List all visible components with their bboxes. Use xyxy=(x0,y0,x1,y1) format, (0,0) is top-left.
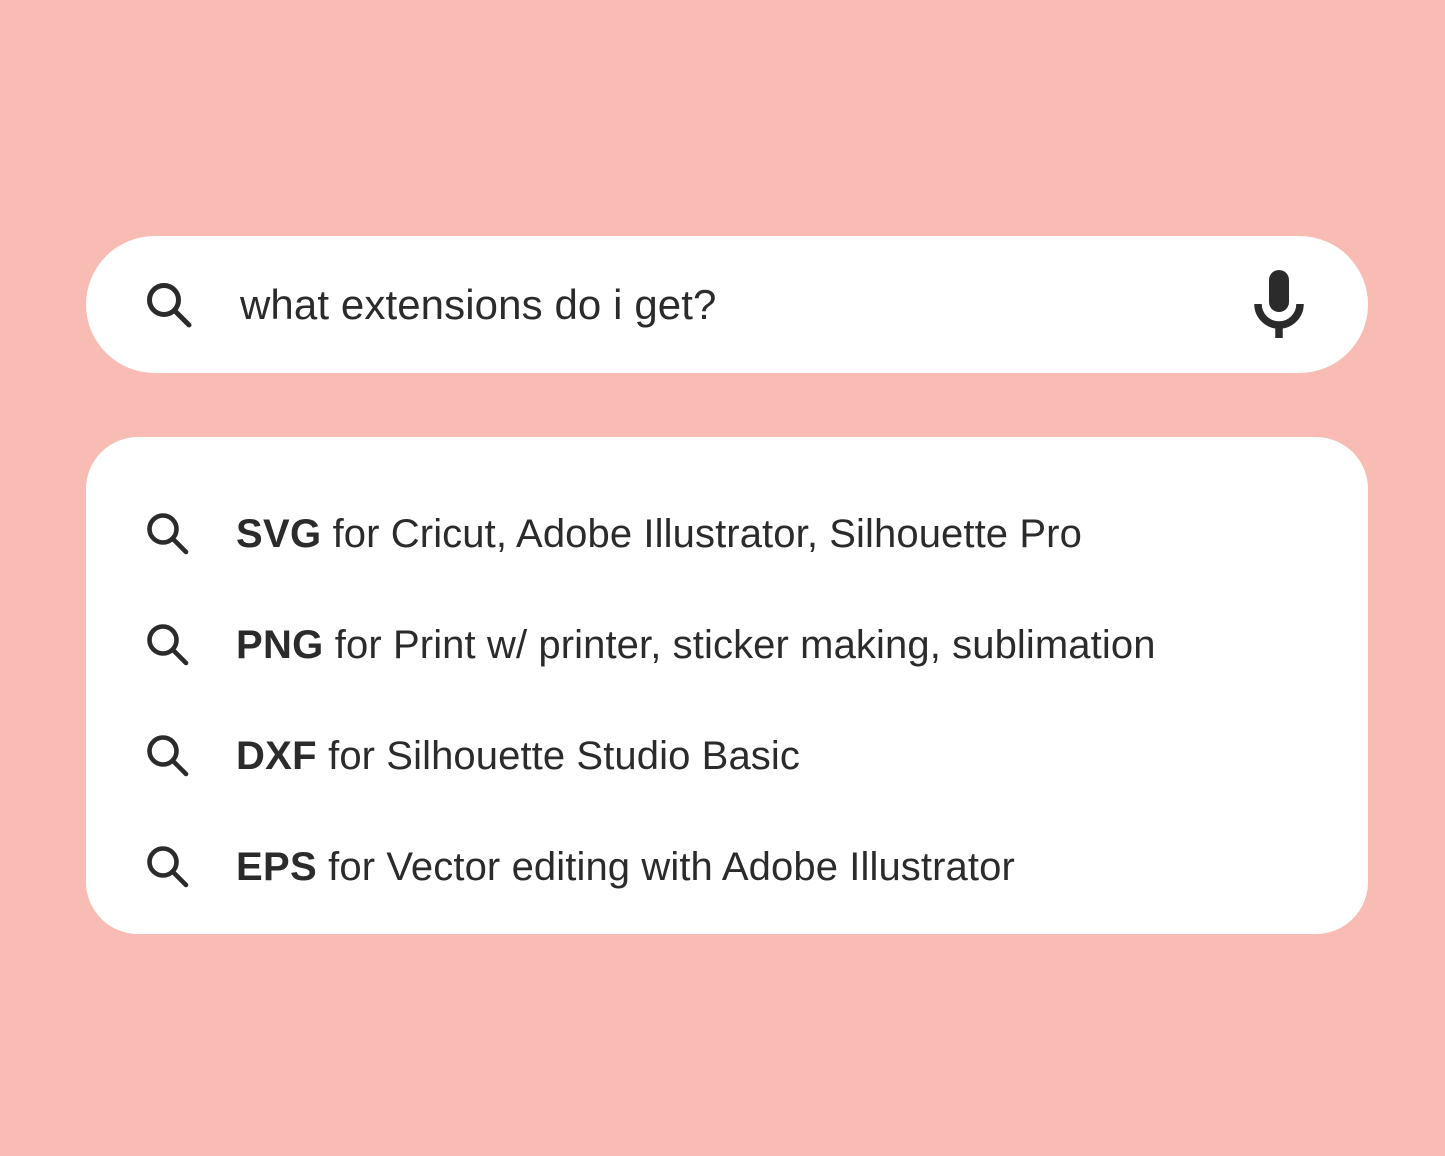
results-card: SVG for Cricut, Adobe Illustrator, Silho… xyxy=(86,437,1368,934)
result-label: EPS for Vector editing with Adobe Illust… xyxy=(236,845,1015,889)
search-icon xyxy=(143,279,195,331)
list-item[interactable]: EPS for Vector editing with Adobe Illust… xyxy=(86,811,1368,922)
search-bar[interactable]: what extensions do i get? xyxy=(86,236,1368,373)
format-description: for Print w/ printer, sticker making, su… xyxy=(324,623,1156,667)
format-name: DXF xyxy=(236,734,317,778)
search-input[interactable]: what extensions do i get? xyxy=(240,284,1248,326)
search-icon xyxy=(144,732,192,780)
list-item[interactable]: SVG for Cricut, Adobe Illustrator, Silho… xyxy=(86,478,1368,589)
search-icon xyxy=(144,621,192,669)
result-label: PNG for Print w/ printer, sticker making… xyxy=(236,623,1156,667)
format-description: for Cricut, Adobe Illustrator, Silhouett… xyxy=(321,512,1082,556)
list-item[interactable]: DXF for Silhouette Studio Basic xyxy=(86,700,1368,811)
list-item[interactable]: PNG for Print w/ printer, sticker making… xyxy=(86,589,1368,700)
format-name: PNG xyxy=(236,623,324,667)
result-label: SVG for Cricut, Adobe Illustrator, Silho… xyxy=(236,512,1082,556)
format-description: for Silhouette Studio Basic xyxy=(317,734,800,778)
format-description: for Vector editing with Adobe Illustrato… xyxy=(317,845,1015,889)
page-root: what extensions do i get? SVG for Cricut… xyxy=(0,0,1445,1156)
search-icon xyxy=(144,843,192,891)
format-name: EPS xyxy=(236,845,317,889)
result-label: DXF for Silhouette Studio Basic xyxy=(236,734,800,778)
format-name: SVG xyxy=(236,512,321,556)
microphone-icon[interactable] xyxy=(1248,266,1310,344)
search-icon xyxy=(144,510,192,558)
